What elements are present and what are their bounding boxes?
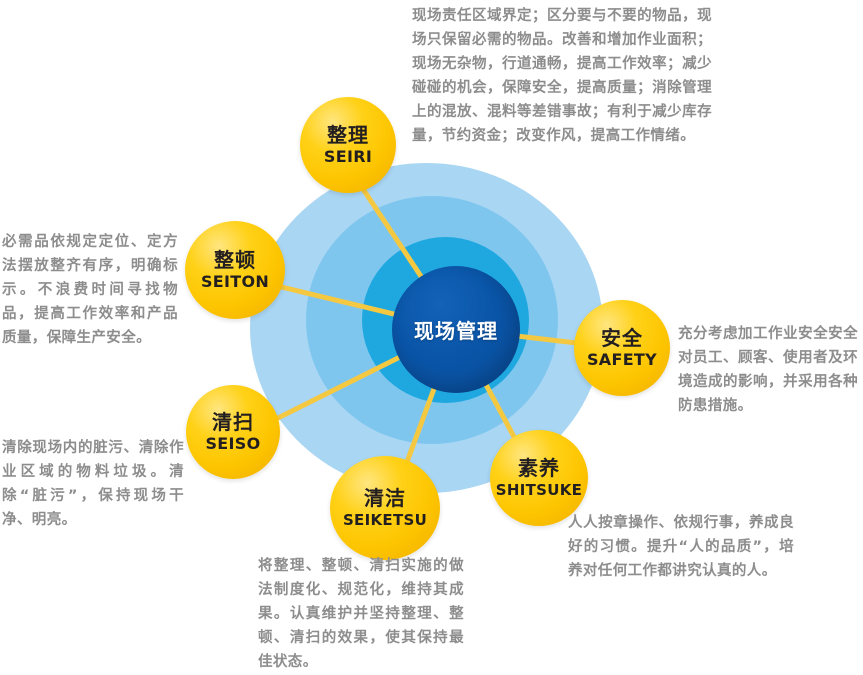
node-seiketsu-cn: 清洁 xyxy=(364,488,406,510)
node-seiton-romaji: SEITON xyxy=(201,273,269,290)
node-safety[interactable]: 安全 SAFETY xyxy=(574,300,670,396)
node-seiketsu-romaji: SEIKETSU xyxy=(343,512,427,528)
node-seiri-cn: 整理 xyxy=(327,125,369,147)
description-safety: 充分考虑加工作业安全安全对员工、顾客、使用者及环境造成的影响，并采用各种防患措施… xyxy=(678,322,858,418)
diagram-canvas: 现场管理 整理 SEIRI 整顿 SEITON 清扫 SEISO 清洁 SEIK… xyxy=(0,0,863,675)
description-seiri: 现场责任区域界定；区分要与不要的物品，现场只保留必需的物品。改善和增加作业面积；… xyxy=(412,4,712,148)
node-seiton-cn: 整顿 xyxy=(214,250,256,272)
node-safety-cn: 安全 xyxy=(601,328,643,350)
node-shitsuke-romaji: SHITSUKE xyxy=(496,482,582,498)
node-shitsuke-cn: 素养 xyxy=(518,458,560,480)
description-seiso: 清除现场内的脏污、清除作业区域的物料垃圾。清除“脏污”，保持现场干净、明亮。 xyxy=(2,436,184,532)
node-seiton[interactable]: 整顿 SEITON xyxy=(185,221,285,319)
description-seiketsu: 将整理、整顿、清扫实施的做法制度化、规范化，维持其成果。认真维护并坚持整理、整顿… xyxy=(258,554,464,674)
node-seiso-cn: 清扫 xyxy=(212,412,254,434)
center-circle[interactable] xyxy=(392,266,520,393)
description-seiton: 必需品依规定定位、定方法摆放整齐有序，明确标示。不浪费时间寻找物品，提高工作效率… xyxy=(2,230,178,350)
node-seiri[interactable]: 整理 SEIRI xyxy=(300,97,396,193)
node-seiso[interactable]: 清扫 SEISO xyxy=(186,385,280,479)
node-safety-romaji: SAFETY xyxy=(587,351,657,368)
node-seiri-romaji: SEIRI xyxy=(324,148,372,165)
description-shitsuke: 人人按章操作、依规行事，养成良好的习惯。提升“人的品质”，培养对任何工作都讲究认… xyxy=(568,511,794,583)
node-seiketsu[interactable]: 清洁 SEIKETSU xyxy=(330,456,440,560)
node-seiso-romaji: SEISO xyxy=(205,435,260,452)
